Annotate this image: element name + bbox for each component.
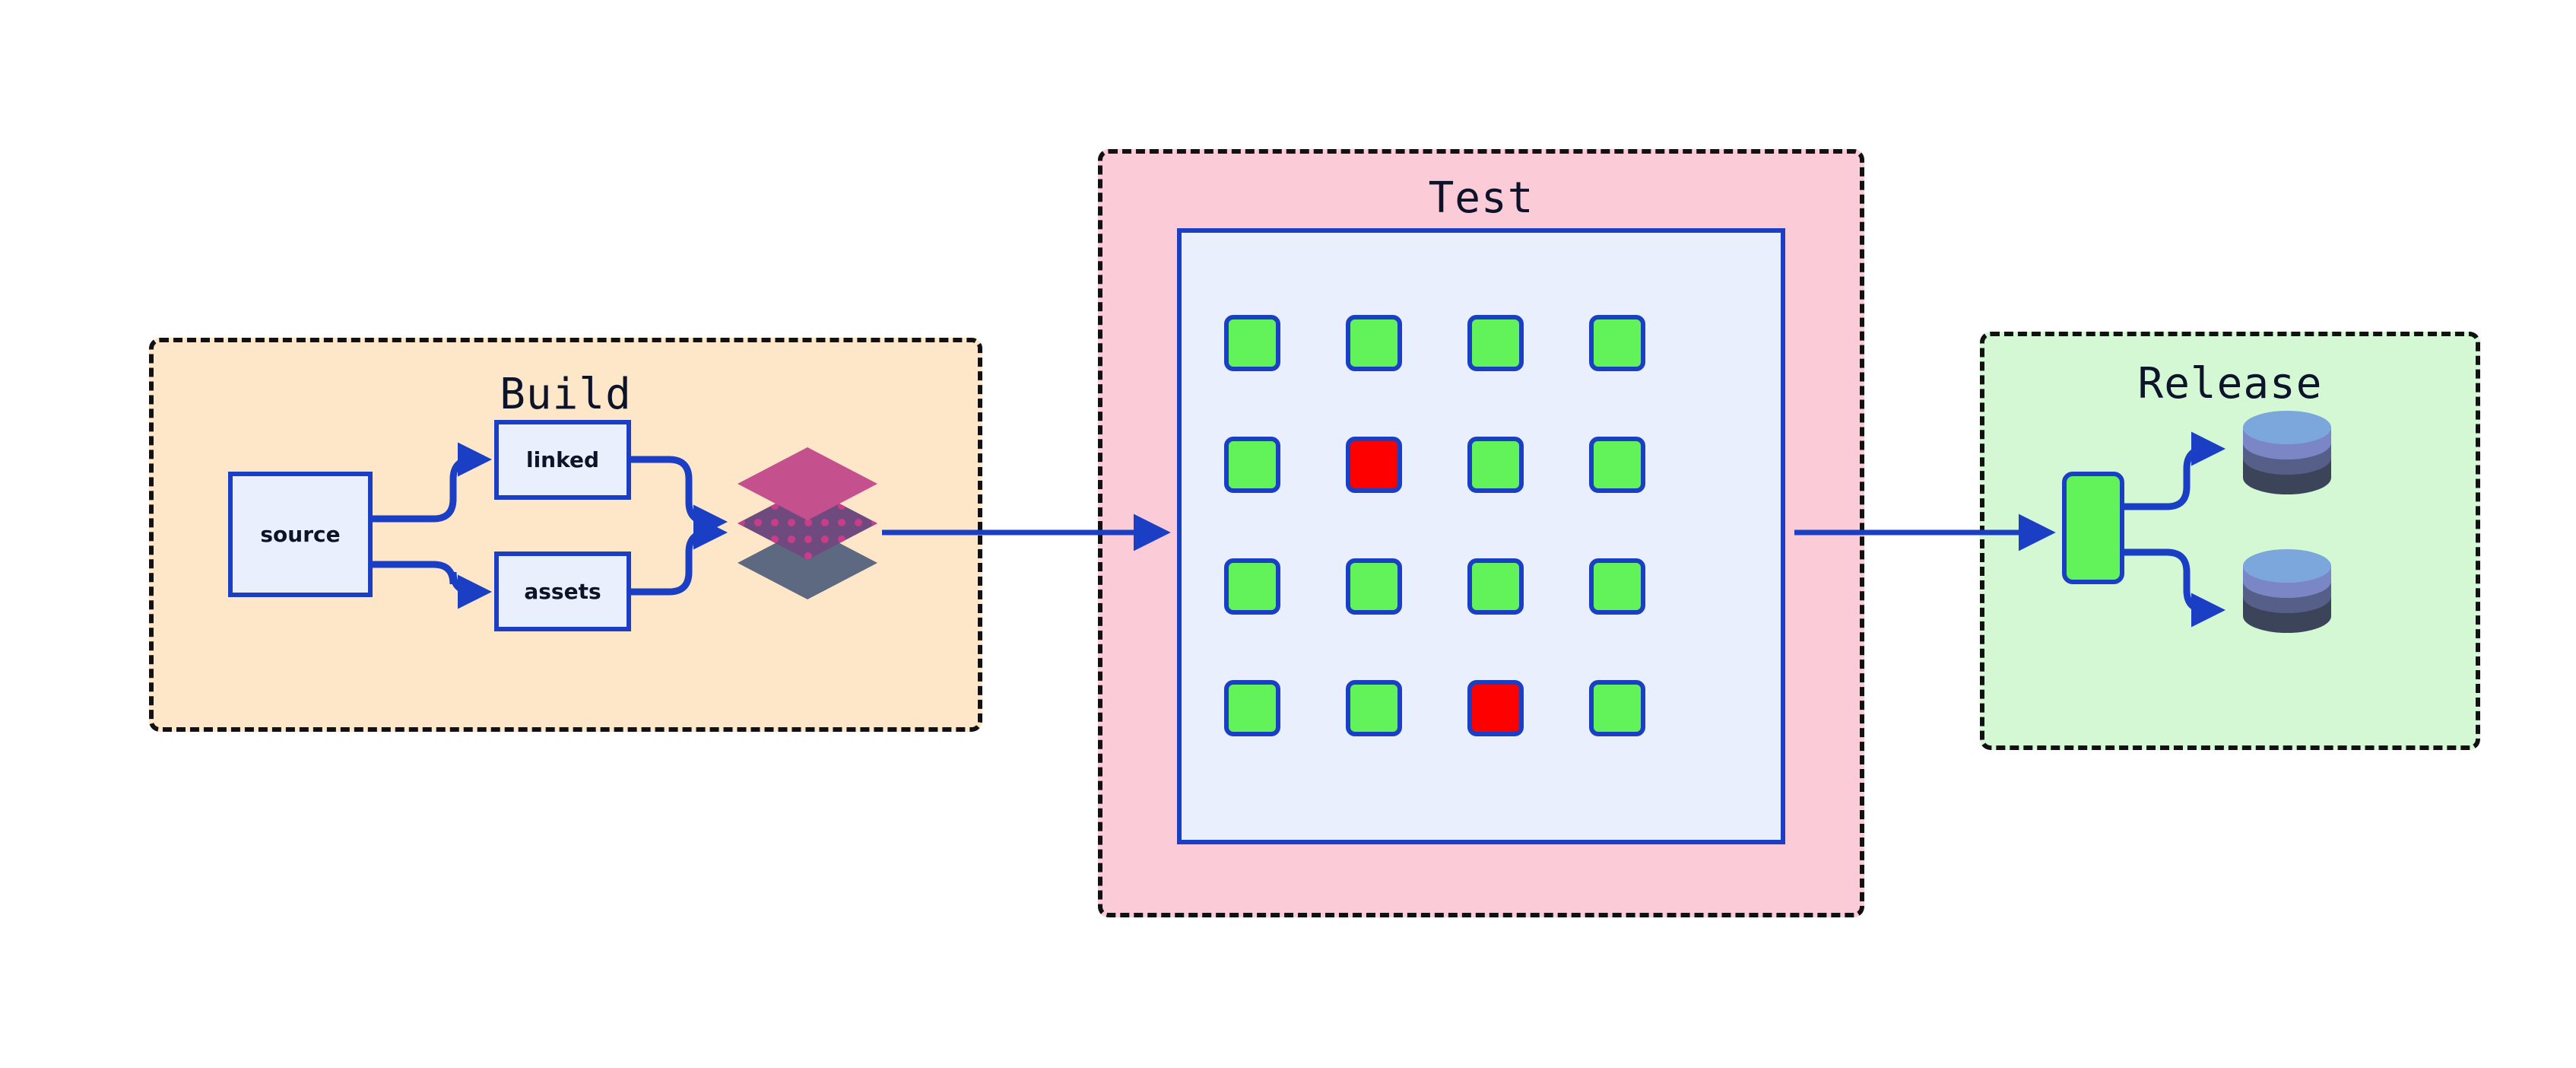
build-node-linked-label: linked (526, 447, 599, 472)
stage-test-title: Test (1102, 173, 1860, 223)
test-cell-pass[interactable] (1589, 315, 1645, 371)
database-icon[interactable] (2235, 549, 2339, 642)
test-cell-pass[interactable] (1224, 558, 1280, 615)
test-cell-pass[interactable] (1467, 437, 1524, 493)
test-cell-pass[interactable] (1346, 558, 1402, 615)
test-cell-pass[interactable] (1224, 437, 1280, 493)
release-gate-node[interactable] (2062, 472, 2124, 584)
test-cell-pass[interactable] (1467, 315, 1524, 371)
test-cell-fail[interactable] (1467, 680, 1524, 736)
test-cell-pass[interactable] (1346, 680, 1402, 736)
test-cell-pass[interactable] (1589, 437, 1645, 493)
build-node-source-label: source (260, 522, 340, 547)
build-node-assets[interactable]: assets (494, 551, 631, 631)
test-cell-pass[interactable] (1346, 315, 1402, 371)
build-node-source[interactable]: source (228, 472, 373, 597)
test-results-grid (1224, 315, 1747, 771)
build-node-assets-label: assets (524, 579, 601, 604)
diagram-canvas: Build source linked assets Test Release (0, 0, 2576, 1068)
test-cell-pass[interactable] (1589, 680, 1645, 736)
build-node-linked[interactable]: linked (494, 420, 631, 500)
test-cell-pass[interactable] (1224, 680, 1280, 736)
test-cell-pass[interactable] (1224, 315, 1280, 371)
test-cell-pass[interactable] (1589, 558, 1645, 615)
test-results-panel (1177, 228, 1785, 844)
test-cell-pass[interactable] (1467, 558, 1524, 615)
stage-build-title: Build (154, 370, 978, 419)
database-icon[interactable] (2235, 411, 2339, 504)
stacked-layers-icon (733, 447, 882, 599)
stage-release: Release (1980, 332, 2480, 750)
test-cell-fail[interactable] (1346, 437, 1402, 493)
stage-release-title: Release (1984, 359, 2476, 408)
